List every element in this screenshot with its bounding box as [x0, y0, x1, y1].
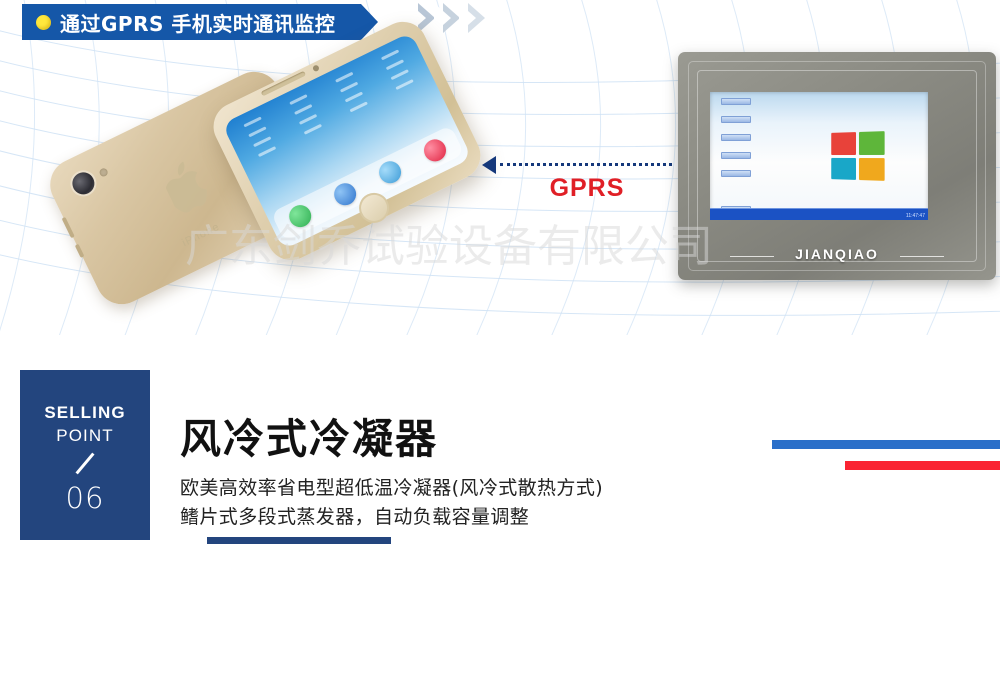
hmi-app-icon[interactable] — [718, 169, 754, 177]
feature-description-line1: 欧美高效率省电型超低温冷凝器(风冷式散热方式) — [180, 474, 603, 503]
hero-section: 通过GPRS 手机实时通讯监控 iPhone — [0, 0, 1000, 335]
app-grid — [231, 42, 426, 163]
hmi-icon-grid — [716, 97, 800, 220]
safari-app-icon — [375, 158, 404, 187]
power-button — [75, 244, 85, 258]
badge-number: 06 — [20, 481, 150, 515]
hmi-app-icon[interactable] — [718, 115, 754, 123]
gprs-label: GPRS — [482, 174, 692, 203]
feature-description-line2: 鳍片式多段式蒸发器，自动负载容量调整 — [180, 503, 603, 532]
hmi-app-icon[interactable] — [718, 133, 754, 141]
bottom-section: JIANQIAO 冷凝器是放出热量的设备，将蒸发器中吸收的热 — [0, 600, 1000, 697]
badge-slash-icon — [75, 453, 94, 475]
banner-bar: 通过GPRS 手机实时通讯监控 — [22, 4, 361, 40]
volume-button — [62, 217, 75, 239]
selling-point-badge: SELLING POINT 06 — [20, 370, 150, 540]
hmi-app-icon[interactable] — [718, 97, 754, 105]
feature-underline-bar — [207, 537, 391, 544]
feature-title: 风冷式冷凝器 — [180, 405, 438, 465]
dotted-link-line — [500, 163, 672, 166]
yellow-dot-icon — [36, 15, 51, 30]
hmi-taskbar: 11:47:47 — [710, 208, 928, 220]
apple-logo-icon — [159, 155, 218, 217]
flash-icon — [98, 167, 109, 178]
feature-description: 欧美高效率省电型超低温冷凝器(风冷式散热方式) 鳍片式多段式蒸发器，自动负载容量… — [180, 474, 603, 532]
music-app-icon — [420, 136, 449, 165]
hmi-app-icon[interactable] — [718, 151, 754, 159]
mail-app-icon — [330, 179, 359, 208]
hmi-brand-label: JIANQIAO — [678, 246, 996, 262]
arrow-left-icon — [482, 156, 496, 174]
hero-banner: 通过GPRS 手机实时通讯监控 — [22, 4, 361, 40]
hmi-screen: 11:47:47 — [710, 92, 928, 220]
banner-title: 通过GPRS 手机实时通讯监控 — [60, 8, 335, 37]
hmi-clock: 11:47:47 — [906, 213, 925, 219]
camera-icon — [69, 169, 98, 198]
badge-line2: POINT — [20, 426, 150, 446]
windows-logo-icon — [831, 131, 884, 181]
badge-line1: SELLING — [20, 403, 150, 423]
accent-bar-blue — [772, 440, 1000, 449]
accent-bar-red — [845, 461, 1000, 470]
hero-watermark: 广东剑乔试验设备有限公司 — [185, 210, 713, 274]
gprs-link-indicator: GPRS — [482, 150, 692, 204]
front-camera-icon — [312, 64, 320, 72]
product-detail-page: 通过GPRS 手机实时通讯监控 iPhone — [0, 0, 1000, 697]
hmi-touch-panel: 11:47:47 JIANQIAO — [678, 52, 996, 280]
